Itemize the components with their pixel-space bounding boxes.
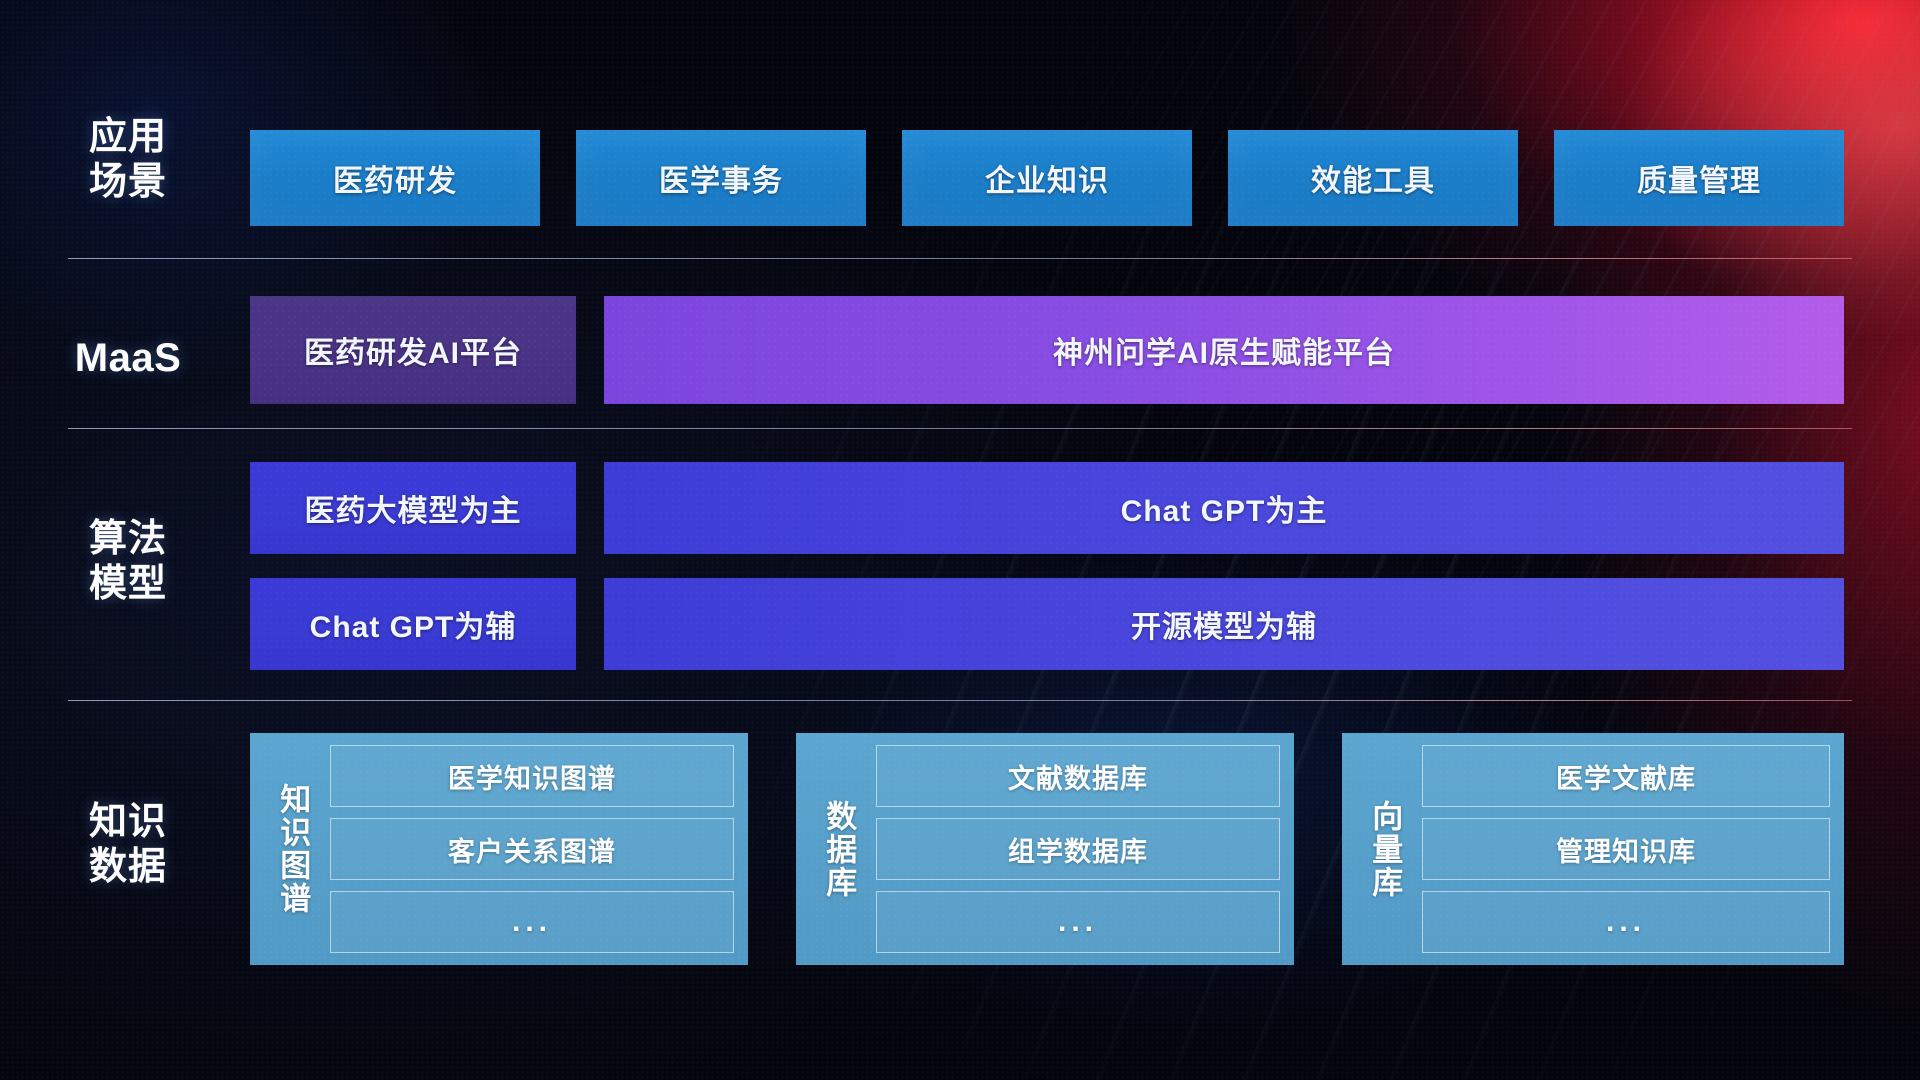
knowledge-item-graph-1[interactable]: 医学知识图谱 [330, 745, 734, 807]
knowledge-item-database-2[interactable]: 组学数据库 [876, 818, 1280, 880]
knowledge-item-graph-2[interactable]: 客户关系图谱 [330, 818, 734, 880]
knowledge-group-vector-title: 向量库 [1352, 745, 1416, 953]
divider-maas-algorithm [68, 428, 1852, 429]
knowledge-item-vector-1[interactable]: 医学文献库 [1422, 745, 1830, 807]
knowledge-item-vector-2[interactable]: 管理知识库 [1422, 818, 1830, 880]
app-card-5[interactable]: 质量管理 [1554, 130, 1844, 226]
algorithm-card-chatgpt-primary[interactable]: Chat GPT为主 [604, 462, 1844, 554]
app-card-2-label: 医学事务 [659, 156, 783, 200]
knowledge-item-vector-3[interactable]: ... [1422, 891, 1830, 953]
knowledge-group-database[interactable]: 数据库 文献数据库 组学数据库 ... [796, 733, 1294, 965]
knowledge-group-graph[interactable]: 知识图谱 医学知识图谱 客户关系图谱 ... [250, 733, 748, 965]
row-label-maas: MaaS [48, 335, 208, 382]
app-card-2[interactable]: 医学事务 [576, 130, 866, 226]
algorithm-card-opensource-secondary-label: 开源模型为辅 [1131, 602, 1317, 646]
divider-application-maas [68, 258, 1852, 259]
maas-card-medical-platform[interactable]: 医药研发AI平台 [250, 296, 576, 404]
algorithm-card-chatgpt-primary-label: Chat GPT为主 [1121, 486, 1328, 530]
knowledge-group-graph-items: 医学知识图谱 客户关系图谱 ... [330, 745, 734, 953]
app-card-1[interactable]: 医药研发 [250, 130, 540, 226]
row-label-knowledge: 知识 数据 [48, 800, 208, 890]
row-label-algorithm: 算法 模型 [48, 517, 208, 607]
knowledge-item-graph-3[interactable]: ... [330, 891, 734, 953]
divider-algorithm-knowledge [68, 700, 1852, 701]
algorithm-card-chatgpt-secondary[interactable]: Chat GPT为辅 [250, 578, 576, 670]
maas-card-shenzhou-platform[interactable]: 神州问学AI原生赋能平台 [604, 296, 1844, 404]
maas-card-medical-platform-label: 医药研发AI平台 [304, 328, 522, 372]
algorithm-card-medical-llm-label: 医药大模型为主 [305, 486, 522, 530]
knowledge-group-vector[interactable]: 向量库 医学文献库 管理知识库 ... [1342, 733, 1844, 965]
knowledge-item-database-1[interactable]: 文献数据库 [876, 745, 1280, 807]
app-card-1-label: 医药研发 [333, 156, 457, 200]
knowledge-group-database-items: 文献数据库 组学数据库 ... [876, 745, 1280, 953]
knowledge-item-database-3[interactable]: ... [876, 891, 1280, 953]
knowledge-group-graph-title: 知识图谱 [260, 745, 324, 953]
app-card-3[interactable]: 企业知识 [902, 130, 1192, 226]
algorithm-card-chatgpt-secondary-label: Chat GPT为辅 [310, 602, 517, 646]
app-card-5-label: 质量管理 [1637, 156, 1761, 200]
row-label-application: 应用 场景 [48, 115, 208, 205]
algorithm-card-opensource-secondary[interactable]: 开源模型为辅 [604, 578, 1844, 670]
diagram-canvas: 应用 场景 医药研发 医学事务 企业知识 效能工具 质量管理 MaaS 医药研发… [0, 0, 1920, 1080]
app-card-4[interactable]: 效能工具 [1228, 130, 1518, 226]
algorithm-card-medical-llm[interactable]: 医药大模型为主 [250, 462, 576, 554]
app-card-4-label: 效能工具 [1311, 156, 1435, 200]
knowledge-group-database-title: 数据库 [806, 745, 870, 953]
knowledge-group-vector-items: 医学文献库 管理知识库 ... [1422, 745, 1830, 953]
maas-card-shenzhou-platform-label: 神州问学AI原生赋能平台 [1053, 328, 1395, 372]
app-card-3-label: 企业知识 [985, 156, 1109, 200]
